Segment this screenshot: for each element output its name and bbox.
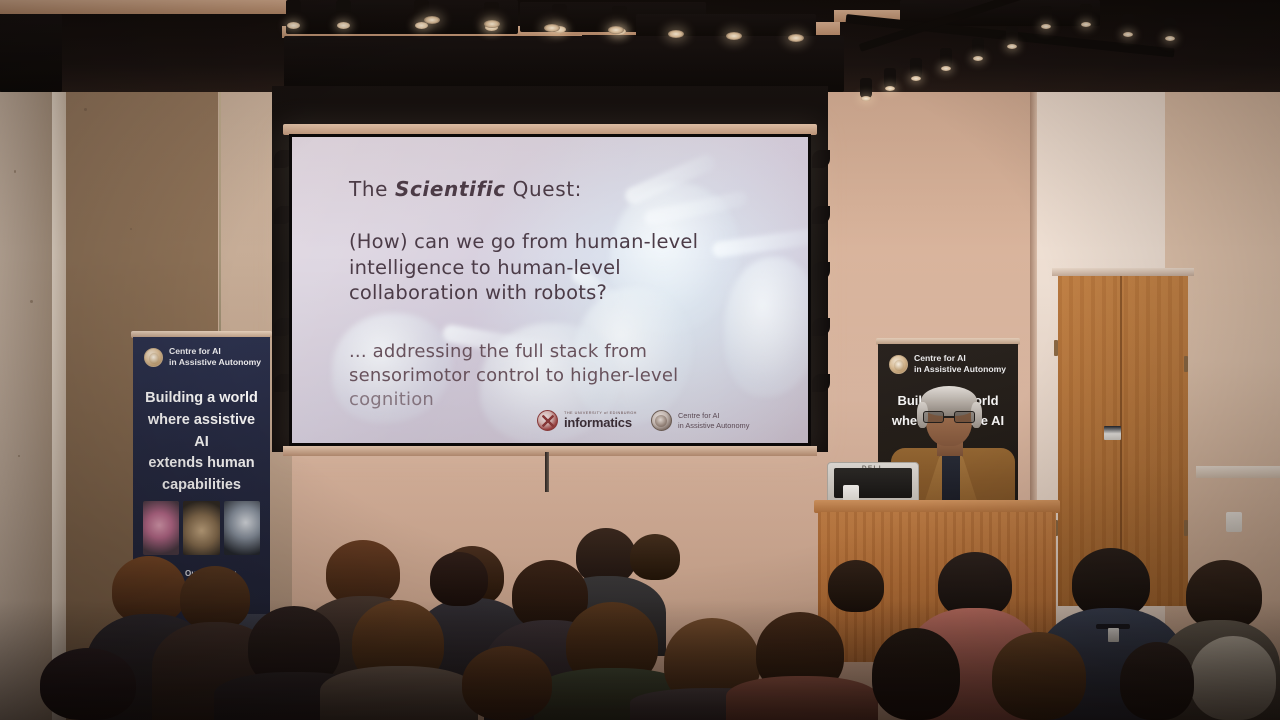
headline-line-3: extends human [141, 453, 262, 475]
ceiling-spotlight [1040, 6, 1052, 26]
centre-seal-icon [144, 348, 163, 367]
banner-left-logo: Centre for AI in Assistive Autonomy [133, 337, 270, 368]
slide-body-line: (How) can we go from human-level [349, 229, 808, 255]
slide-body-line: collaboration with robots? [349, 280, 808, 306]
ceiling-spotlight [336, 0, 351, 26]
centre-seal-icon [651, 410, 672, 431]
slide-subtext-line: cognition [349, 388, 808, 412]
ceiling-downlight [544, 24, 560, 32]
audience-head [430, 552, 488, 606]
dell-monitor: DELL [827, 462, 919, 503]
university-crest-icon [537, 410, 558, 431]
ceiling-spotlight [1122, 14, 1134, 34]
slide-subtext: ... addressing the full stack from senso… [349, 340, 808, 412]
ceiling-spotlight [286, 0, 301, 26]
banner-photo [143, 501, 179, 555]
ceiling-downlight [668, 30, 684, 38]
ceiling-downlight [484, 20, 500, 28]
centre-logo: Centre for AI in Assistive Autonomy [651, 410, 749, 431]
lecture-hall-photo: The Scientific Quest: (How) can we go fr… [0, 0, 1280, 720]
door-sign [1104, 426, 1121, 440]
ceiling-beam [0, 0, 300, 14]
banner-right-logo-line2: in Assistive Autonomy [914, 364, 1006, 375]
banner-left-headline: Building a world where assistive AI exte… [133, 388, 270, 497]
banner-photo [183, 501, 219, 555]
ceiling-spotlight [860, 78, 872, 98]
ceiling-spotlight [972, 38, 984, 58]
slide-subtext-line: ... addressing the full stack from [349, 340, 808, 364]
slide-logo-row: THE UNIVERSITY of EDINBURGH informatics … [537, 410, 749, 431]
banner-left-photos [143, 501, 260, 555]
door-frame [1052, 268, 1194, 276]
headline-line-1: Building a world [141, 388, 262, 410]
banner-right-logo-line1: Centre for AI [914, 353, 1006, 364]
ceiling-downlight [424, 16, 440, 24]
slide-body: (How) can we go from human-level intelli… [349, 229, 808, 306]
ceiling-spotlight [910, 58, 922, 78]
screen-stand [545, 452, 549, 492]
ceiling-spotlight [1080, 4, 1092, 24]
projection-screen: The Scientific Quest: (How) can we go fr… [292, 137, 808, 443]
ceiling-spotlight [884, 68, 896, 88]
banner-right-logo: Centre for AI in Assistive Autonomy [878, 344, 1018, 375]
headline-line-2: where assistive AI [141, 410, 262, 454]
ceiling-spotlight [940, 48, 952, 68]
slide-content: The Scientific Quest: (How) can we go fr… [292, 137, 808, 443]
banner-left-logo-line2: in Assistive Autonomy [169, 357, 261, 368]
ceiling-soffit [284, 36, 844, 92]
slide-subtext-line: sensorimotor control to higher-level [349, 364, 808, 388]
centre-seal-icon [889, 355, 908, 374]
floor-shadow [0, 600, 1280, 720]
hanging-cable [219, 86, 221, 336]
ceiling-downlight [788, 34, 804, 42]
ceiling-spotlight [1006, 26, 1018, 46]
slide-body-line: intelligence to human-level [349, 255, 808, 281]
slide-title: The Scientific Quest: [349, 177, 808, 201]
wall-socket [1226, 512, 1242, 532]
ceiling-spotlight [1164, 18, 1176, 38]
university-logo: THE UNIVERSITY of EDINBURGH informatics [537, 410, 637, 431]
door-hinge [1184, 520, 1188, 536]
audience-head [630, 534, 680, 580]
door-hinge [1184, 356, 1188, 372]
banner-left-logo-line1: Centre for AI [169, 346, 261, 357]
speaker-glasses-icon [923, 411, 975, 423]
door-hinge [1054, 340, 1058, 356]
banner-photo [224, 501, 260, 555]
ceiling-downlight [608, 26, 624, 34]
centre-name-line2: in Assistive Autonomy [678, 421, 749, 431]
centre-name-line1: Centre for AI [678, 411, 749, 421]
informatics-wordmark: informatics [564, 416, 637, 430]
wall-ledge [1196, 466, 1280, 478]
headline-line-4: capabilities [141, 475, 262, 497]
ceiling-downlight [726, 32, 742, 40]
ceiling-panel [0, 14, 62, 92]
projection-screen-frame: The Scientific Quest: (How) can we go fr… [289, 134, 811, 446]
screen-bottom-rail [283, 446, 817, 456]
